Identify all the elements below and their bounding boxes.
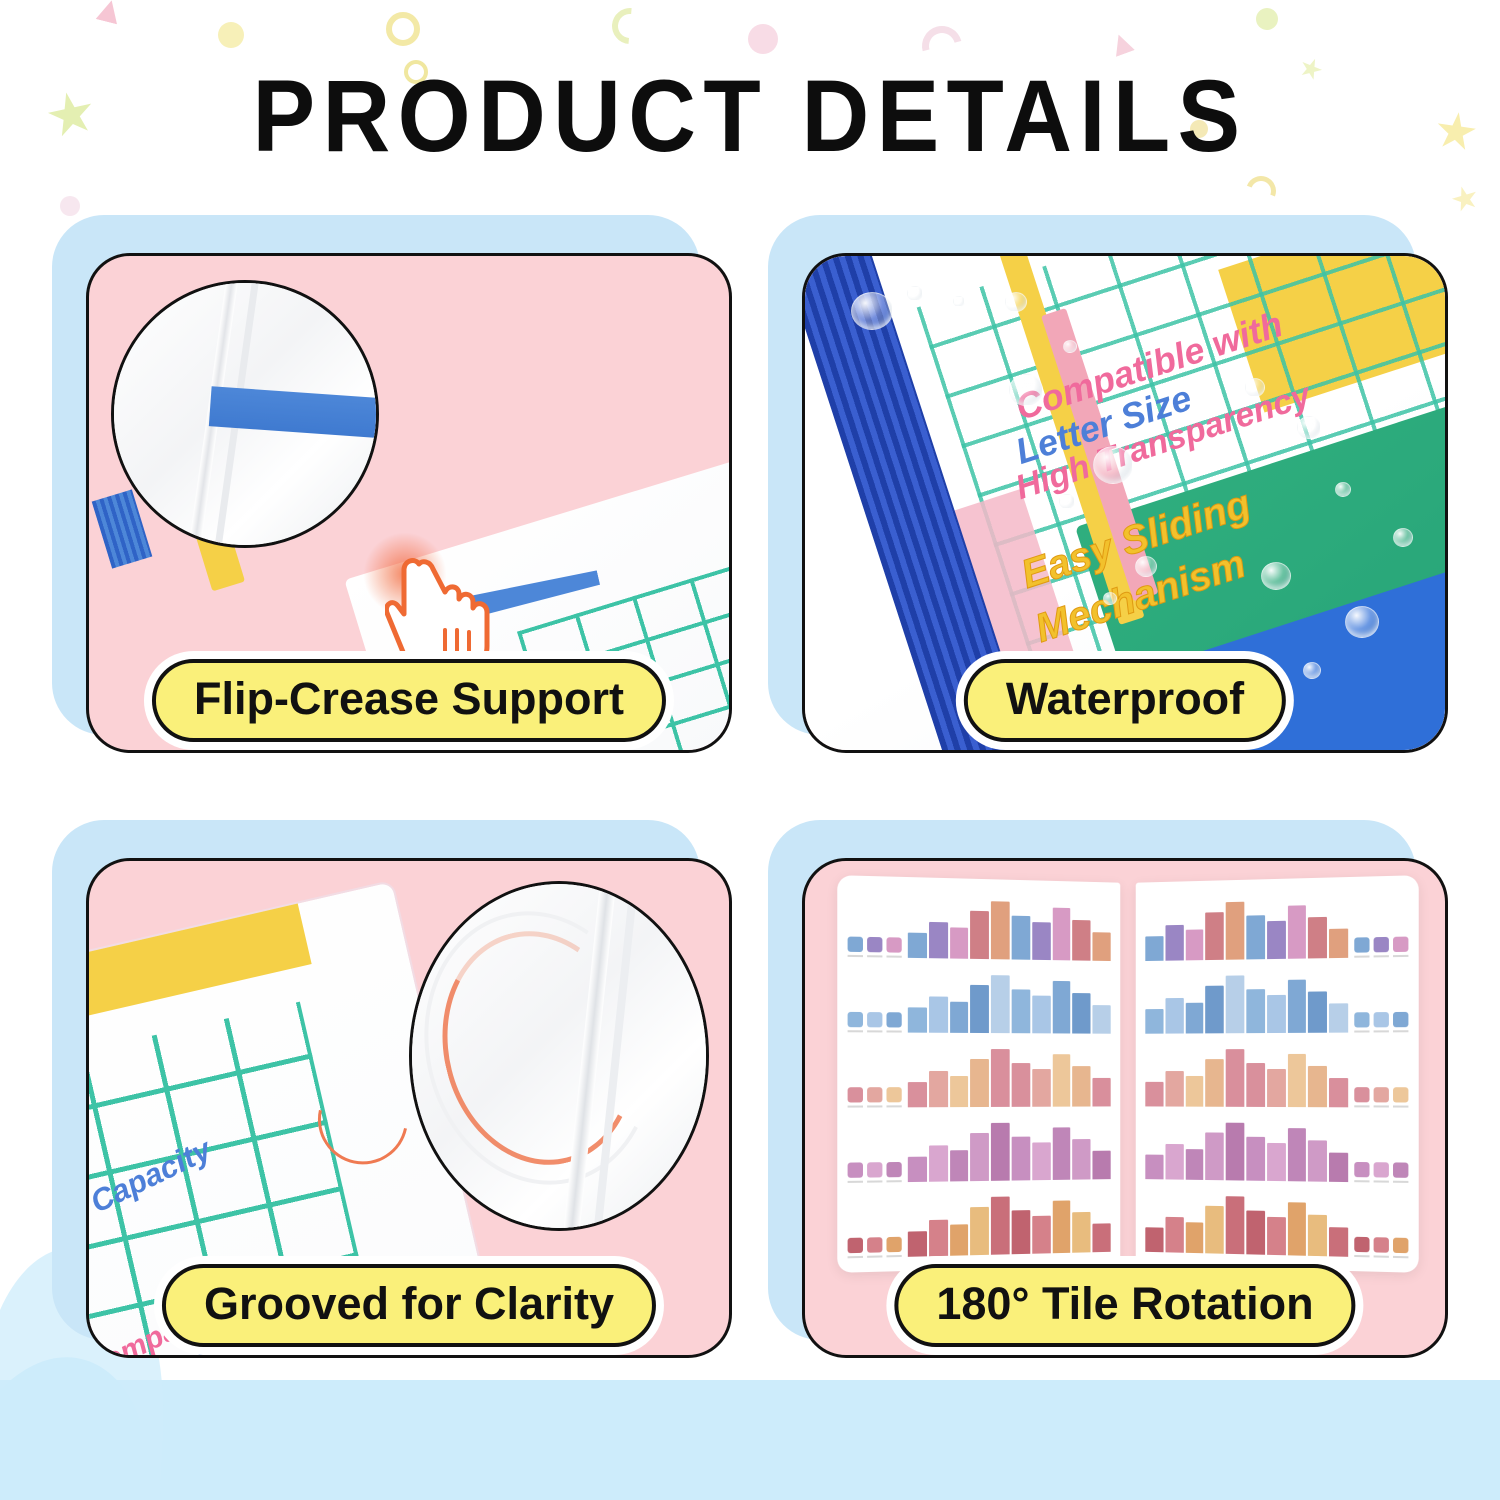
legend-entry	[886, 1162, 901, 1182]
legend-swatch	[848, 1012, 863, 1027]
legend-label-line	[1354, 1255, 1369, 1257]
mini-bar	[908, 1082, 927, 1107]
mini-bar	[908, 1007, 927, 1032]
water-droplet	[1103, 592, 1117, 605]
mini-bar	[1288, 980, 1307, 1033]
legend-swatch	[848, 937, 863, 953]
mini-bar	[1165, 1144, 1183, 1179]
legend-entry	[1393, 1087, 1408, 1107]
mini-bar	[929, 997, 948, 1033]
mini-bar-chart	[908, 1041, 1111, 1108]
water-droplet	[1345, 606, 1379, 638]
legend-swatch	[867, 1237, 882, 1253]
legend-entry	[1354, 1237, 1369, 1258]
chart-sheet-row	[1145, 965, 1408, 1034]
mini-bar	[1093, 1151, 1111, 1180]
mini-bar	[908, 1231, 927, 1257]
mini-bar	[1206, 1060, 1224, 1107]
mini-bar-chart	[1145, 966, 1348, 1034]
panel-card: 180° Tile Rotation	[802, 858, 1448, 1358]
legend-label-line	[1393, 955, 1408, 957]
panel-card: Flip-Crease Support	[86, 253, 732, 753]
chart-legend	[848, 1087, 902, 1107]
legend-entry	[1374, 1237, 1389, 1258]
legend-entry	[1354, 1162, 1369, 1182]
legend-entry	[886, 1012, 901, 1032]
legend-entry	[1374, 937, 1389, 958]
mini-bar	[970, 1133, 989, 1181]
chart-legend	[1354, 1012, 1408, 1033]
legend-entry	[848, 937, 863, 958]
legend-label-line	[848, 1256, 863, 1258]
confetti-ring	[386, 12, 420, 46]
mini-bar	[1226, 1123, 1244, 1181]
panel-label-rotation: 180° Tile Rotation	[894, 1264, 1355, 1347]
chart-legend	[1354, 1237, 1408, 1259]
confetti-star	[1449, 183, 1481, 215]
legend-entry	[886, 1237, 901, 1258]
legend-label-line	[867, 955, 882, 957]
legend-swatch	[1354, 937, 1369, 952]
legend-entry	[1393, 1012, 1408, 1032]
mini-bar-chart	[908, 966, 1111, 1034]
legend-swatch	[1354, 1162, 1369, 1177]
mini-bar	[1073, 1139, 1091, 1180]
water-droplet	[1393, 528, 1413, 547]
mini-bar	[1052, 1201, 1070, 1254]
legend-label-line	[848, 1030, 863, 1032]
chart-sheet-row	[1145, 1040, 1408, 1107]
mini-bar	[1246, 1063, 1265, 1106]
mini-bar	[1052, 981, 1070, 1033]
legend-entry	[1354, 1087, 1369, 1107]
chart-sheet-row	[1145, 1114, 1408, 1183]
legend-label-line	[1374, 1255, 1389, 1257]
mini-bar-chart	[1145, 1114, 1348, 1182]
legend-label-line	[886, 1180, 901, 1182]
legend-swatch	[1354, 1012, 1369, 1027]
mini-bar	[1267, 995, 1286, 1033]
mini-bar	[1145, 1009, 1163, 1034]
legend-swatch	[848, 1238, 863, 1254]
mini-bar	[1165, 1071, 1183, 1106]
mini-bar	[1267, 1069, 1286, 1107]
chart-sheet-row	[848, 965, 1111, 1034]
legend-entry	[848, 1087, 863, 1107]
water-droplet	[907, 286, 923, 301]
mini-bar	[991, 901, 1010, 959]
mini-bar	[950, 1002, 969, 1033]
mini-bar	[908, 1157, 927, 1183]
chart-legend	[848, 1237, 902, 1259]
legend-label-line	[886, 1105, 901, 1107]
water-droplet	[1009, 374, 1043, 406]
mini-bar	[1012, 1063, 1030, 1106]
mini-bar	[970, 985, 989, 1033]
legend-entry	[867, 1012, 882, 1032]
chart-legend	[848, 1162, 902, 1183]
legend-label-line	[1354, 955, 1369, 957]
mini-bar	[1185, 1149, 1203, 1180]
mini-bar	[1165, 925, 1183, 960]
mini-bar-chart	[1145, 891, 1348, 961]
mini-bar	[1012, 916, 1030, 960]
chart-legend	[1354, 1162, 1408, 1183]
legend-label-line	[867, 1255, 882, 1257]
mini-bar	[1093, 932, 1111, 961]
legend-label-line	[886, 1030, 901, 1032]
legend-swatch	[1393, 1238, 1408, 1254]
legend-swatch	[1374, 1162, 1389, 1177]
legend-entry	[848, 1238, 863, 1259]
legend-label-line	[1393, 1106, 1408, 1108]
legend-entry	[867, 1162, 882, 1182]
mini-bar	[1185, 1076, 1203, 1107]
legend-swatch	[886, 937, 901, 952]
mini-bar	[991, 1049, 1010, 1107]
legend-label-line	[1393, 1181, 1408, 1183]
legend-label-line	[1374, 1105, 1389, 1107]
mini-bar	[1052, 908, 1070, 961]
mini-bar-chart	[1145, 1041, 1348, 1108]
panel-label-grooved: Grooved for Clarity	[162, 1264, 656, 1347]
water-droplet	[953, 296, 965, 307]
mini-bar	[1246, 916, 1265, 960]
mini-bar	[970, 911, 989, 959]
legend-swatch	[1393, 1162, 1408, 1177]
mini-bar	[1308, 992, 1327, 1033]
mini-bar	[1073, 993, 1091, 1033]
legend-entry	[1354, 937, 1369, 957]
legend-swatch	[886, 1012, 901, 1027]
mini-bar	[1145, 1082, 1163, 1107]
water-droplet	[1059, 494, 1075, 509]
legend-swatch	[848, 1162, 863, 1177]
mini-bar	[1185, 1003, 1203, 1034]
mini-bar	[1246, 1137, 1265, 1181]
legend-entry	[1354, 1012, 1369, 1032]
legend-entry	[867, 1087, 882, 1107]
legend-entry	[1374, 1087, 1389, 1107]
mini-bar	[1073, 920, 1091, 961]
mini-bar	[1288, 1128, 1307, 1181]
mini-bar	[950, 1076, 969, 1107]
legend-label-line	[1393, 1030, 1408, 1032]
mini-bar	[1308, 1066, 1327, 1107]
legend-swatch	[886, 1087, 901, 1102]
legend-swatch	[867, 1162, 882, 1177]
legend-label-line	[1374, 1180, 1389, 1182]
panel-grooved-for-clarity[interactable]: Large Capacity Compatible with Letter Si…	[52, 820, 732, 1395]
mini-bar	[1032, 922, 1050, 960]
legend-swatch	[1354, 1087, 1369, 1102]
legend-label-line	[1354, 1180, 1369, 1182]
mini-bar	[1206, 913, 1224, 960]
mini-bar	[1206, 986, 1224, 1033]
confetti-circle	[1256, 8, 1278, 30]
mini-bar	[1226, 902, 1244, 960]
mini-bar	[1329, 1078, 1348, 1107]
legend-entry	[1393, 937, 1408, 958]
mini-bar	[1052, 1054, 1070, 1106]
legend-label-line	[886, 955, 901, 957]
panel-card: Compatible with Letter Size High Transpa…	[802, 253, 1448, 753]
magnifier-crease-detail	[111, 280, 379, 548]
panel-label-flip-crease: Flip-Crease Support	[152, 659, 666, 742]
panel-flip-crease-support[interactable]: Flip-Crease Support	[52, 215, 732, 790]
confetti-circle	[748, 24, 778, 54]
mini-bar	[929, 922, 948, 958]
mini-bar	[1308, 1140, 1327, 1181]
mini-bar	[1308, 917, 1327, 958]
legend-label-line	[1354, 1030, 1369, 1032]
open-binder-spread	[839, 879, 1417, 1269]
confetti-circle	[60, 196, 80, 216]
chart-sheet-row	[848, 1040, 1111, 1107]
mini-bar	[1288, 905, 1307, 958]
legend-label-line	[1374, 1030, 1389, 1032]
mini-bar	[991, 975, 1010, 1033]
legend-swatch	[886, 1237, 901, 1253]
mini-bar	[908, 933, 927, 959]
water-droplet	[1005, 292, 1027, 312]
panel-tile-rotation[interactable]: 180° Tile Rotation	[768, 820, 1448, 1395]
mini-bar-chart	[908, 1114, 1111, 1182]
chart-sheet-row	[848, 890, 1111, 961]
mini-bar	[970, 1059, 989, 1107]
chart-sheet-row	[1145, 890, 1408, 961]
legend-label-line	[867, 1105, 882, 1107]
legend-entry	[1393, 1238, 1408, 1259]
mini-bar	[1329, 1003, 1348, 1032]
mini-bar	[1329, 929, 1348, 959]
legend-label-line	[867, 1030, 882, 1032]
mini-bar	[929, 1146, 948, 1182]
water-droplet	[1261, 562, 1291, 590]
legend-swatch	[867, 937, 882, 952]
mini-bar	[929, 1071, 948, 1107]
legend-swatch	[1374, 1087, 1389, 1102]
confetti-star	[1433, 109, 1478, 154]
mini-bar	[1093, 1005, 1111, 1034]
water-droplet	[1063, 340, 1077, 353]
mini-bar	[1073, 1066, 1091, 1106]
legend-swatch	[867, 1087, 882, 1102]
legend-entry	[848, 1012, 863, 1032]
mini-bar	[1226, 1196, 1244, 1254]
mini-bar	[1185, 929, 1203, 960]
legend-swatch	[1393, 937, 1408, 953]
product-details-grid: Flip-Crease Support Compatible with	[52, 215, 1448, 1395]
legend-swatch	[867, 1012, 882, 1027]
legend-label-line	[1374, 955, 1389, 957]
legend-label-line	[886, 1255, 901, 1257]
panel-card: Large Capacity Compatible with Letter Si…	[86, 858, 732, 1358]
binder-page-right	[1136, 875, 1419, 1273]
chart-sheet-row	[848, 1114, 1111, 1183]
legend-entry	[886, 1087, 901, 1107]
mini-bar	[1267, 921, 1286, 960]
confetti-squig	[1241, 171, 1281, 211]
mini-bar	[1329, 1227, 1348, 1257]
legend-entry	[1393, 1162, 1408, 1183]
legend-label-line	[867, 1180, 882, 1182]
mini-bar	[1032, 1069, 1050, 1107]
legend-entry	[1374, 1012, 1389, 1032]
confetti-circle	[218, 22, 244, 48]
mini-bar	[1012, 1137, 1030, 1181]
legend-swatch	[1374, 1012, 1389, 1027]
legend-label-line	[848, 1106, 863, 1108]
chart-legend	[848, 937, 902, 958]
mini-bar	[1052, 1128, 1070, 1180]
confetti-tri	[1109, 31, 1135, 57]
mini-bar	[1226, 1049, 1244, 1107]
mini-bar	[1145, 1154, 1163, 1179]
magnifier-groove-detail	[409, 881, 709, 1231]
mini-bar	[1032, 1142, 1050, 1180]
panel-label-waterproof: Waterproof	[964, 659, 1286, 742]
mini-bar	[1093, 1078, 1111, 1107]
mini-bar	[991, 1123, 1010, 1181]
legend-label-line	[1354, 1105, 1369, 1107]
chart-legend	[1354, 937, 1408, 958]
legend-swatch	[1354, 1237, 1369, 1253]
water-droplet	[1245, 378, 1265, 397]
water-droplet	[851, 292, 893, 330]
mini-bar	[950, 927, 969, 958]
water-droplet	[1135, 556, 1157, 577]
legend-swatch	[1374, 937, 1389, 952]
legend-swatch	[1393, 1087, 1408, 1102]
page-title: PRODUCT DETAILS	[60, 58, 1440, 175]
mini-bar	[1206, 1133, 1224, 1180]
legend-entry	[848, 1162, 863, 1183]
water-droplet	[1303, 662, 1321, 679]
mini-bar-chart	[908, 891, 1111, 961]
water-droplet	[1335, 482, 1351, 497]
confetti-squig	[605, 1, 656, 52]
mini-bar	[1165, 998, 1183, 1033]
legend-entry	[1374, 1162, 1389, 1182]
mini-bar	[1329, 1153, 1348, 1183]
mini-bar	[1246, 990, 1265, 1034]
mini-bar	[1032, 995, 1050, 1033]
binder-page-left	[837, 875, 1120, 1273]
legend-label-line	[1393, 1256, 1408, 1258]
legend-swatch	[1374, 1237, 1389, 1253]
panel-waterproof[interactable]: Compatible with Letter Size High Transpa…	[768, 215, 1448, 790]
mini-bar	[1226, 975, 1244, 1033]
mini-bar	[1145, 936, 1163, 961]
chart-legend	[848, 1012, 902, 1033]
water-droplet	[1297, 416, 1321, 439]
legend-swatch	[848, 1087, 863, 1102]
legend-label-line	[848, 1181, 863, 1183]
legend-entry	[886, 937, 901, 957]
legend-entry	[867, 937, 882, 958]
chart-legend	[1354, 1087, 1408, 1107]
water-droplet	[1093, 446, 1133, 484]
mini-bar	[1267, 1143, 1286, 1181]
legend-swatch	[1393, 1012, 1408, 1027]
legend-label-line	[848, 955, 863, 957]
legend-entry	[867, 1237, 882, 1258]
legend-swatch	[886, 1162, 901, 1177]
mini-bar	[1012, 990, 1030, 1033]
mini-bar	[1288, 1054, 1307, 1107]
mini-bar	[950, 1150, 969, 1181]
confetti-tri	[96, 0, 123, 24]
